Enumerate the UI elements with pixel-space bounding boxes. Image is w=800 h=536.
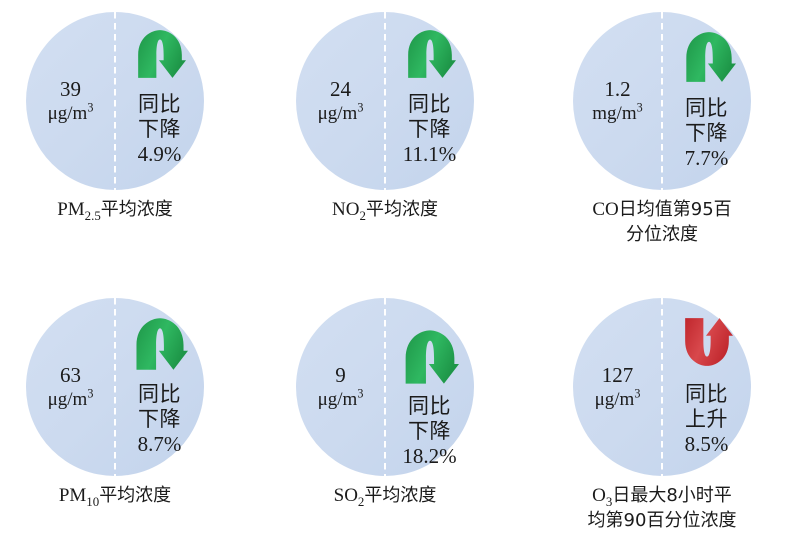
trend-line-1: 同比	[138, 92, 181, 117]
caption-line-2: 均第90百分位浓度	[502, 509, 800, 532]
trend-line-1: 同比	[138, 382, 181, 407]
caption-suffix: 日均值第95百	[619, 199, 732, 220]
trend-line-2: 上升	[685, 407, 728, 432]
trend-line-2: 下降	[138, 117, 181, 142]
trend-percent: 11.1%	[403, 142, 456, 167]
arrow-up-curved-icon	[681, 316, 733, 368]
value-unit: μg/m3	[318, 102, 364, 125]
value-unit: μg/m3	[48, 388, 94, 411]
arrow-down-curved-icon	[404, 28, 456, 80]
trend-block: 同比 下降 8.7%	[115, 382, 204, 456]
value-block: 63 μg/m3	[26, 298, 115, 480]
metric-card-pm10: 63 μg/m3 同比 下降 8.7%	[26, 298, 204, 476]
metric-caption-so2: SO2平均浓度	[225, 484, 545, 509]
trend-block: 同比 下降 11.1%	[385, 92, 474, 166]
trend-line-1: 同比	[408, 394, 451, 419]
trend-line-1: 同比	[685, 382, 728, 407]
infographic-board: 39 μg/m3 同比 下降 4.9% PM2.5平均浓度 24 μg/m3	[0, 0, 800, 536]
trend-line-1: 同比	[408, 92, 451, 117]
caption-prefix: O	[592, 485, 606, 506]
trend-block: 同比 下降 18.2%	[385, 394, 474, 468]
caption-prefix: CO	[592, 199, 618, 220]
unit-exponent: 3	[637, 101, 643, 115]
arrow-down-curved-icon	[134, 28, 186, 80]
trend-line-1: 同比	[685, 96, 728, 121]
trend-percent: 18.2%	[402, 444, 456, 469]
metric-caption-co: CO日均值第95百分位浓度	[502, 198, 800, 246]
caption-suffix: 平均浓度	[366, 199, 438, 220]
caption-prefix: PM	[59, 485, 86, 506]
unit-exponent: 3	[357, 101, 363, 115]
value-block: 1.2 mg/m3	[573, 12, 662, 194]
metric-card-pm25: 39 μg/m3 同比 下降 4.9%	[26, 12, 204, 190]
trend-block: 同比 上升 8.5%	[662, 382, 751, 456]
unit-exponent: 3	[357, 387, 363, 401]
trend-line-2: 下降	[138, 407, 181, 432]
metric-caption-o3: O3日最大8小时平均第90百分位浓度	[502, 484, 800, 532]
value-block: 127 μg/m3	[573, 298, 662, 482]
caption-subscript: 10	[86, 494, 99, 509]
unit-main: μg/m	[318, 103, 358, 124]
value-number: 63	[60, 363, 81, 389]
arrow-down-curved-icon	[401, 328, 459, 386]
unit-exponent: 3	[87, 101, 93, 115]
caption-suffix: 平均浓度	[101, 199, 173, 220]
trend-percent: 7.7%	[685, 146, 729, 171]
value-number: 9	[335, 363, 346, 389]
caption-prefix: SO	[334, 485, 358, 506]
value-number: 39	[60, 77, 81, 103]
trend-percent: 8.5%	[685, 432, 729, 457]
unit-exponent: 3	[634, 387, 640, 401]
trend-line-2: 下降	[685, 121, 728, 146]
caption-suffix: 平均浓度	[99, 485, 171, 506]
value-block: 39 μg/m3	[26, 12, 115, 190]
trend-line-2: 下降	[408, 117, 451, 142]
arrow-down-curved-icon	[132, 316, 188, 372]
unit-main: μg/m	[48, 389, 88, 410]
metric-caption-no2: NO2平均浓度	[225, 198, 545, 223]
trend-block: 同比 下降 7.7%	[662, 96, 751, 170]
arrow-down-curved-icon	[682, 30, 736, 84]
value-number: 1.2	[604, 77, 630, 103]
value-unit: μg/m3	[595, 388, 641, 411]
caption-subscript: 2.5	[85, 208, 101, 223]
unit-exponent: 3	[87, 387, 93, 401]
metric-card-o3: 127 μg/m3 同比 上升 8.5%	[573, 298, 751, 476]
metric-card-co: 1.2 mg/m3 同比 下降 7.7%	[573, 12, 751, 190]
trend-block: 同比 下降 4.9%	[115, 92, 204, 166]
value-number: 24	[330, 77, 351, 103]
unit-main: μg/m	[318, 389, 358, 410]
caption-prefix: NO	[332, 199, 359, 220]
value-unit: μg/m3	[318, 388, 364, 411]
trend-percent: 4.9%	[138, 142, 182, 167]
value-unit: μg/m3	[48, 102, 94, 125]
caption-prefix: PM	[57, 199, 84, 220]
metric-card-no2: 24 μg/m3 同比 下降 11.1%	[296, 12, 474, 190]
caption-suffix: 平均浓度	[364, 485, 436, 506]
unit-main: μg/m	[48, 103, 88, 124]
value-block: 9 μg/m3	[296, 298, 385, 482]
unit-main: μg/m	[595, 389, 635, 410]
value-unit: mg/m3	[592, 102, 642, 125]
trend-percent: 8.7%	[138, 432, 182, 457]
value-number: 127	[602, 363, 634, 389]
metric-card-so2: 9 μg/m3 同比 下降 18.2%	[296, 298, 474, 476]
caption-suffix: 日最大8小时平	[612, 485, 731, 506]
unit-main: mg/m	[592, 103, 636, 124]
caption-line-2: 分位浓度	[502, 223, 800, 246]
trend-line-2: 下降	[408, 419, 451, 444]
value-block: 24 μg/m3	[296, 12, 385, 190]
